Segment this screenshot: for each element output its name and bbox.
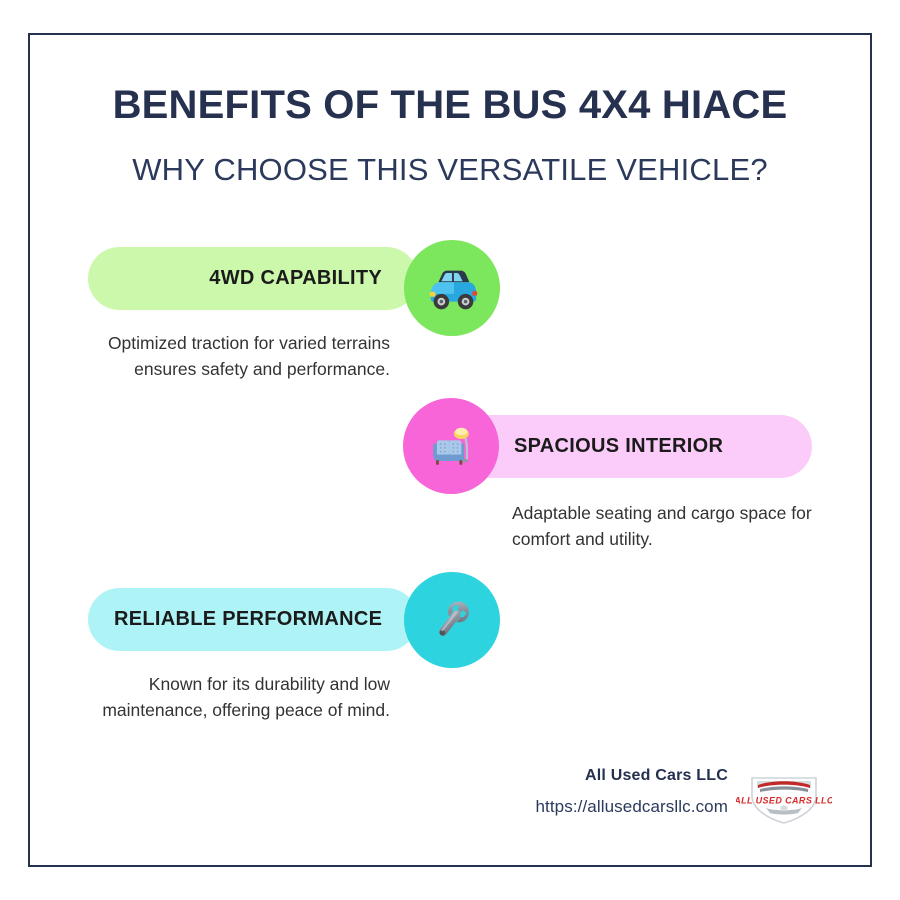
- benefit-heading: RELIABLE PERFORMANCE: [114, 608, 382, 631]
- benefit-heading: SPACIOUS INTERIOR: [514, 435, 723, 458]
- benefit-heading: 4WD CAPABILITY: [209, 267, 382, 290]
- footer-website-url[interactable]: https://allusedcarsllc.com: [428, 797, 728, 817]
- wrench-icon: [404, 572, 500, 668]
- benefit-pill-4wd-capability: 4WD CAPABILITY: [88, 247, 418, 310]
- benefit-pill-spacious-interior: SPACIOUS INTERIOR: [448, 415, 812, 478]
- page-subtitle: WHY CHOOSE THIS VERSATILE VEHICLE?: [50, 151, 850, 188]
- benefit-description: Optimized traction for varied terrains e…: [90, 330, 390, 383]
- blue-car-icon: [404, 240, 500, 336]
- benefit-description: Adaptable seating and cargo space for co…: [512, 500, 812, 553]
- benefit-pill-reliable-performance: RELIABLE PERFORMANCE: [88, 588, 418, 651]
- benefit-description: Known for its durability and low mainten…: [90, 671, 390, 724]
- page-title: BENEFITS OF THE BUS 4X4 HIACE: [50, 83, 850, 128]
- shield-badge-logo: ALL USED CARS LLC: [736, 772, 832, 826]
- infographic-poster: BENEFITS OF THE BUS 4X4 HIACE WHY CHOOSE…: [0, 0, 900, 900]
- couch-and-lamp-icon: [403, 398, 499, 494]
- logo-text: ALL USED CARS LLC: [736, 796, 832, 806]
- footer-brand-name: All Used Cars LLC: [428, 767, 728, 785]
